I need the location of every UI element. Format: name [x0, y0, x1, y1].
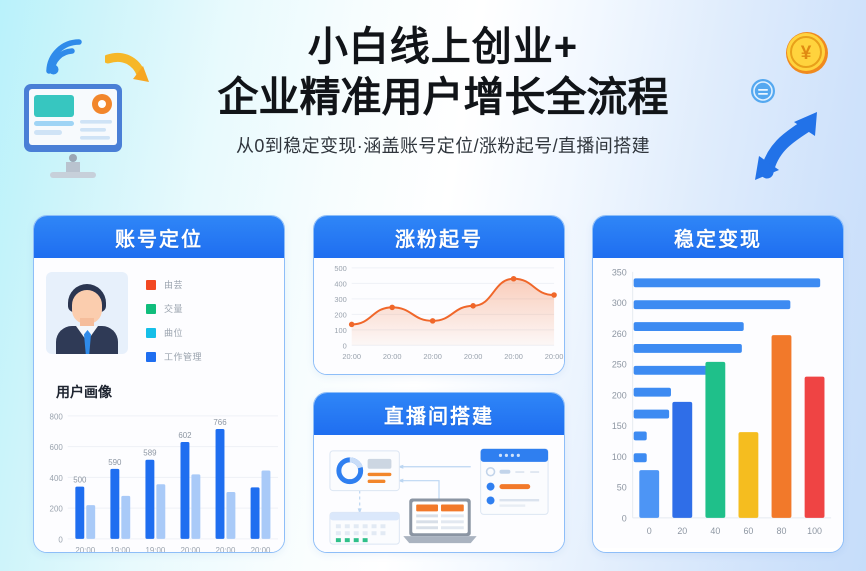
svg-text:20:00: 20:00	[423, 352, 442, 361]
svg-text:20:00: 20:00	[383, 352, 402, 361]
account-bar-chart: 020040060080050020:0059019:0058919:00602…	[34, 402, 284, 553]
svg-text:150: 150	[612, 421, 627, 431]
svg-text:60: 60	[743, 526, 753, 536]
card-title: 直播间搭建	[384, 400, 494, 429]
svg-text:80: 80	[777, 526, 787, 536]
yen-coin-icon: ¥	[784, 30, 830, 76]
svg-text:19:00: 19:00	[145, 546, 165, 553]
card-body	[314, 435, 564, 553]
poster-root: 小白线上创业+ 企业精准用户增长全流程 从0到稳定变现·涵盖账号定位/涨粉起号/…	[0, 0, 866, 571]
svg-text:20:00: 20:00	[180, 546, 200, 553]
svg-text:0: 0	[343, 341, 347, 350]
profile-caption: 用户画像	[34, 382, 284, 402]
svg-text:590: 590	[108, 458, 122, 467]
card-title: 账号定位	[115, 223, 203, 252]
card-title: 稳定变现	[674, 223, 762, 252]
svg-text:100: 100	[612, 452, 627, 462]
laptop	[403, 499, 476, 544]
svg-text:250: 250	[612, 360, 627, 370]
card-body: 010020030040050020:0020:0020:0020:0020:0…	[314, 258, 564, 375]
svg-text:200: 200	[334, 310, 346, 319]
livestream-workflow-diagram	[322, 441, 556, 548]
monetization-combo-chart: 350300260250200150100500020406080100	[593, 258, 843, 548]
card-account-positioning[interactable]: 账号定位 由芸 交量	[33, 215, 285, 553]
svg-text:589: 589	[143, 449, 157, 458]
svg-text:300: 300	[334, 295, 346, 304]
card-livestream-setup[interactable]: 直播间搭建	[313, 392, 565, 553]
legend-label: 由芸	[164, 278, 183, 291]
card-fan-growth[interactable]: 涨粉起号 010020030040050020:0020:0020:0020:0…	[313, 215, 565, 375]
legend-item: 曲位	[146, 326, 202, 339]
legend-label: 工作管理	[164, 350, 202, 363]
fan-growth-line-chart: 010020030040050020:0020:0020:0020:0020:0…	[314, 258, 564, 375]
svg-text:20:00: 20:00	[342, 352, 361, 361]
legend-swatch	[146, 304, 156, 314]
svg-text:100: 100	[334, 326, 346, 335]
svg-text:500: 500	[334, 264, 346, 273]
svg-text:602: 602	[178, 431, 191, 440]
calendar-panel	[330, 512, 399, 544]
svg-text:40: 40	[710, 526, 720, 536]
svg-text:200: 200	[612, 390, 627, 400]
svg-text:400: 400	[334, 279, 346, 288]
svg-text:0: 0	[58, 535, 63, 544]
double-arrow-icon	[751, 104, 827, 184]
card-header: 稳定变现	[593, 216, 843, 258]
hero-title-block: 小白线上创业+ 企业精准用户增长全流程 从0到稳定变现·涵盖账号定位/涨粉起号/…	[133, 23, 753, 158]
legend-item: 由芸	[146, 278, 202, 291]
legend-swatch	[146, 280, 156, 290]
legend-swatch	[146, 352, 156, 362]
svg-text:20:00: 20:00	[75, 546, 95, 553]
legend-label: 曲位	[164, 326, 183, 339]
svg-text:0: 0	[647, 526, 652, 536]
svg-text:20:00: 20:00	[545, 352, 564, 361]
svg-text:766: 766	[213, 418, 227, 427]
svg-text:20: 20	[677, 526, 687, 536]
card-title: 涨粉起号	[395, 223, 483, 252]
svg-text:0: 0	[622, 513, 627, 523]
svg-text:20:00: 20:00	[504, 352, 523, 361]
card-header: 涨粉起号	[314, 216, 564, 258]
legend-swatch	[146, 328, 156, 338]
wifi-signal-icon	[44, 38, 86, 76]
list-panel	[481, 449, 548, 514]
svg-text:19:00: 19:00	[110, 546, 130, 553]
svg-text:20:00: 20:00	[464, 352, 483, 361]
blue-coin-icon	[750, 78, 776, 104]
svg-text:¥: ¥	[801, 43, 812, 64]
hero-title-line1: 小白线上创业+	[133, 23, 753, 71]
card-header: 直播间搭建	[314, 393, 564, 435]
legend-item: 交量	[146, 302, 202, 315]
card-header: 账号定位	[34, 216, 284, 258]
svg-text:20:00: 20:00	[251, 546, 271, 553]
svg-text:300: 300	[612, 298, 627, 308]
legend-item: 工作管理	[146, 350, 202, 363]
hero-subtitle: 从0到稳定变现·涵盖账号定位/涨粉起号/直播间搭建	[133, 132, 753, 158]
card-body: 350300260250200150100500020406080100	[593, 258, 843, 548]
svg-text:200: 200	[50, 505, 64, 514]
desktop-monitor-icon	[22, 82, 126, 180]
svg-text:50: 50	[617, 483, 627, 493]
svg-text:600: 600	[50, 443, 64, 452]
svg-text:20:00: 20:00	[216, 546, 236, 553]
profile-top-row: 由芸 交量 曲位 工作管理	[34, 258, 284, 378]
svg-text:800: 800	[50, 412, 64, 421]
svg-text:400: 400	[50, 474, 64, 483]
hero-title-line2: 企业精准用户增长全流程	[133, 71, 753, 123]
profile-legend: 由芸 交量 曲位 工作管理	[146, 272, 202, 374]
card-body: 由芸 交量 曲位 工作管理 用户画像	[34, 258, 284, 553]
legend-label: 交量	[164, 302, 183, 315]
svg-text:500: 500	[73, 476, 87, 485]
card-stable-monetization[interactable]: 稳定变现 35030026025020015010050002040608010…	[592, 215, 844, 553]
svg-text:100: 100	[807, 526, 822, 536]
svg-text:350: 350	[612, 267, 627, 277]
svg-text:260: 260	[612, 329, 627, 339]
donut-panel	[330, 451, 399, 491]
avatar	[46, 272, 128, 354]
hero-section: 小白线上创业+ 企业精准用户增长全流程 从0到稳定变现·涵盖账号定位/涨粉起号/…	[0, 0, 866, 200]
